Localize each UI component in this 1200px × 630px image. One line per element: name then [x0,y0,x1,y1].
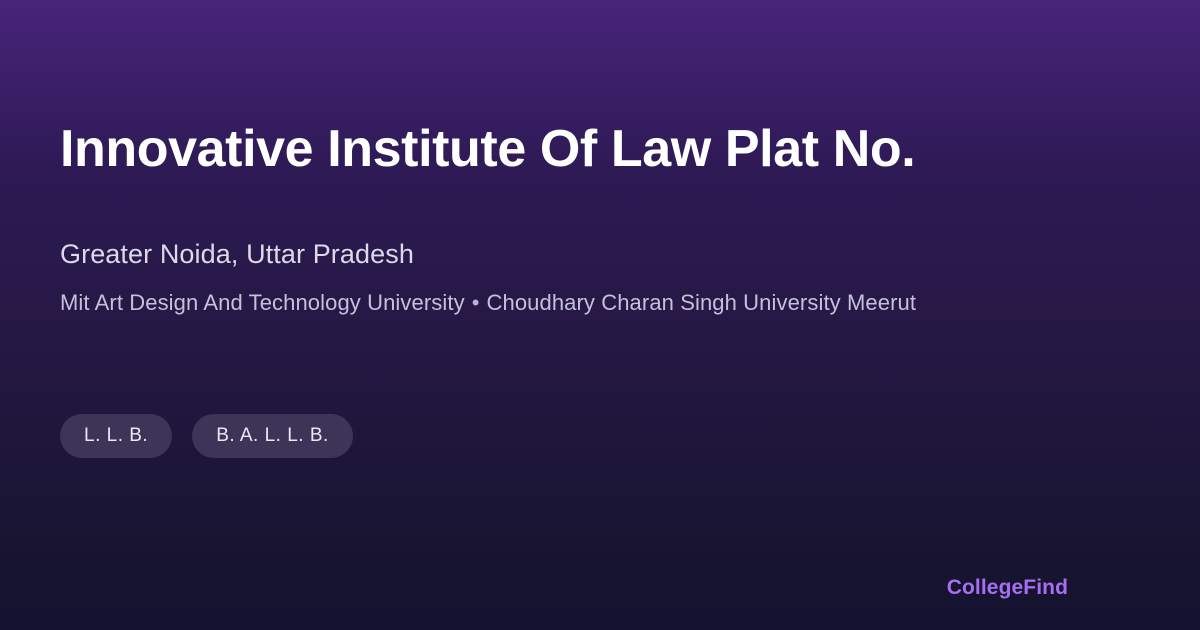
brand-logo: CollegeFind [947,576,1068,600]
brand-row: CollegeFind [60,576,1140,630]
location-text: Greater Noida, Uttar Pradesh [60,236,1140,272]
affiliation-line: Mit Art Design And Technology University… [60,288,1140,318]
og-share-card: Innovative Institute Of Law Plat No. Gre… [0,0,1200,630]
bullet-separator-icon: • [472,288,480,318]
program-pill-ballb[interactable]: B. A. L. L. B. [192,414,353,458]
program-pill-row: L. L. B. B. A. L. L. B. [60,414,1140,458]
program-pill-llb[interactable]: L. L. B. [60,414,172,458]
layout-spacer [60,458,1140,576]
affiliation-secondary: Choudhary Charan Singh University Meerut [487,290,917,315]
meta-block: Greater Noida, Uttar Pradesh Mit Art Des… [60,236,1140,318]
card-content: Innovative Institute Of Law Plat No. Gre… [60,0,1140,630]
affiliation-primary: Mit Art Design And Technology University [60,290,465,315]
title-block: Innovative Institute Of Law Plat No. [60,118,1140,180]
page-title: Innovative Institute Of Law Plat No. [60,118,1140,180]
